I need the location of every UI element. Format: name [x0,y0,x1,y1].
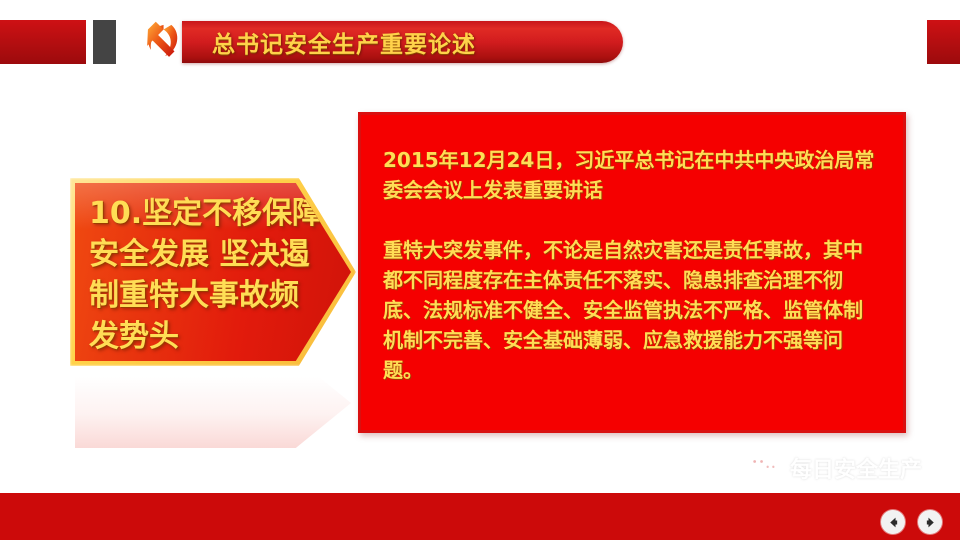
quote-heading: 2015年12月24日，习近平总书记在中共中央政治局常委会会议上发表重要讲话 [383,145,881,205]
header-title: 总书记安全生产重要论述 [212,25,476,59]
arrow-right-icon [924,516,937,529]
slide-nav-controls [881,510,942,534]
quote-panel-inner: 2015年12月24日，习近平总书记在中共中央政治局常委会会议上发表重要讲话 重… [361,115,903,385]
quote-panel: 2015年12月24日，习近平总书记在中共中央政治局常委会会议上发表重要讲话 重… [358,112,906,433]
header-title-banner: 总书记安全生产重要论述 [182,21,623,63]
next-slide-button[interactable] [918,510,942,534]
header-red-block-right [927,20,960,64]
arrow-banner-reflection [70,358,360,458]
prev-slide-button[interactable] [881,510,905,534]
arrow-left-icon [887,516,900,529]
footer-band [0,493,960,540]
quote-body: 重特大突发事件，不论是自然灾害还是责任事故，其中都不同程度存在主体责任不落实、隐… [383,235,881,385]
watermark: 每日安全生产 [746,452,922,484]
arrow-banner-reflection-shape [75,358,351,448]
arrow-banner-text: 10.坚定不移保障安全发展 坚决遏制重特大事故频发势头 [89,193,325,357]
party-emblem-hammer-sickle-icon [137,17,187,67]
wechat-logo-icon [746,453,782,483]
arrow-banner: 10.坚定不移保障安全发展 坚决遏制重特大事故频发势头 [70,178,360,368]
header-gray-block [93,20,116,64]
arrow-banner-body: 10.坚定不移保障安全发展 坚决遏制重特大事故频发势头 [75,183,351,361]
slide-canvas: 总书记安全生产重要论述 10.坚定不移保障安全发展 坚决遏制重特大事故频发势头 [0,0,960,540]
header-red-block-left [0,20,86,64]
watermark-text: 每日安全生产 [790,452,922,484]
